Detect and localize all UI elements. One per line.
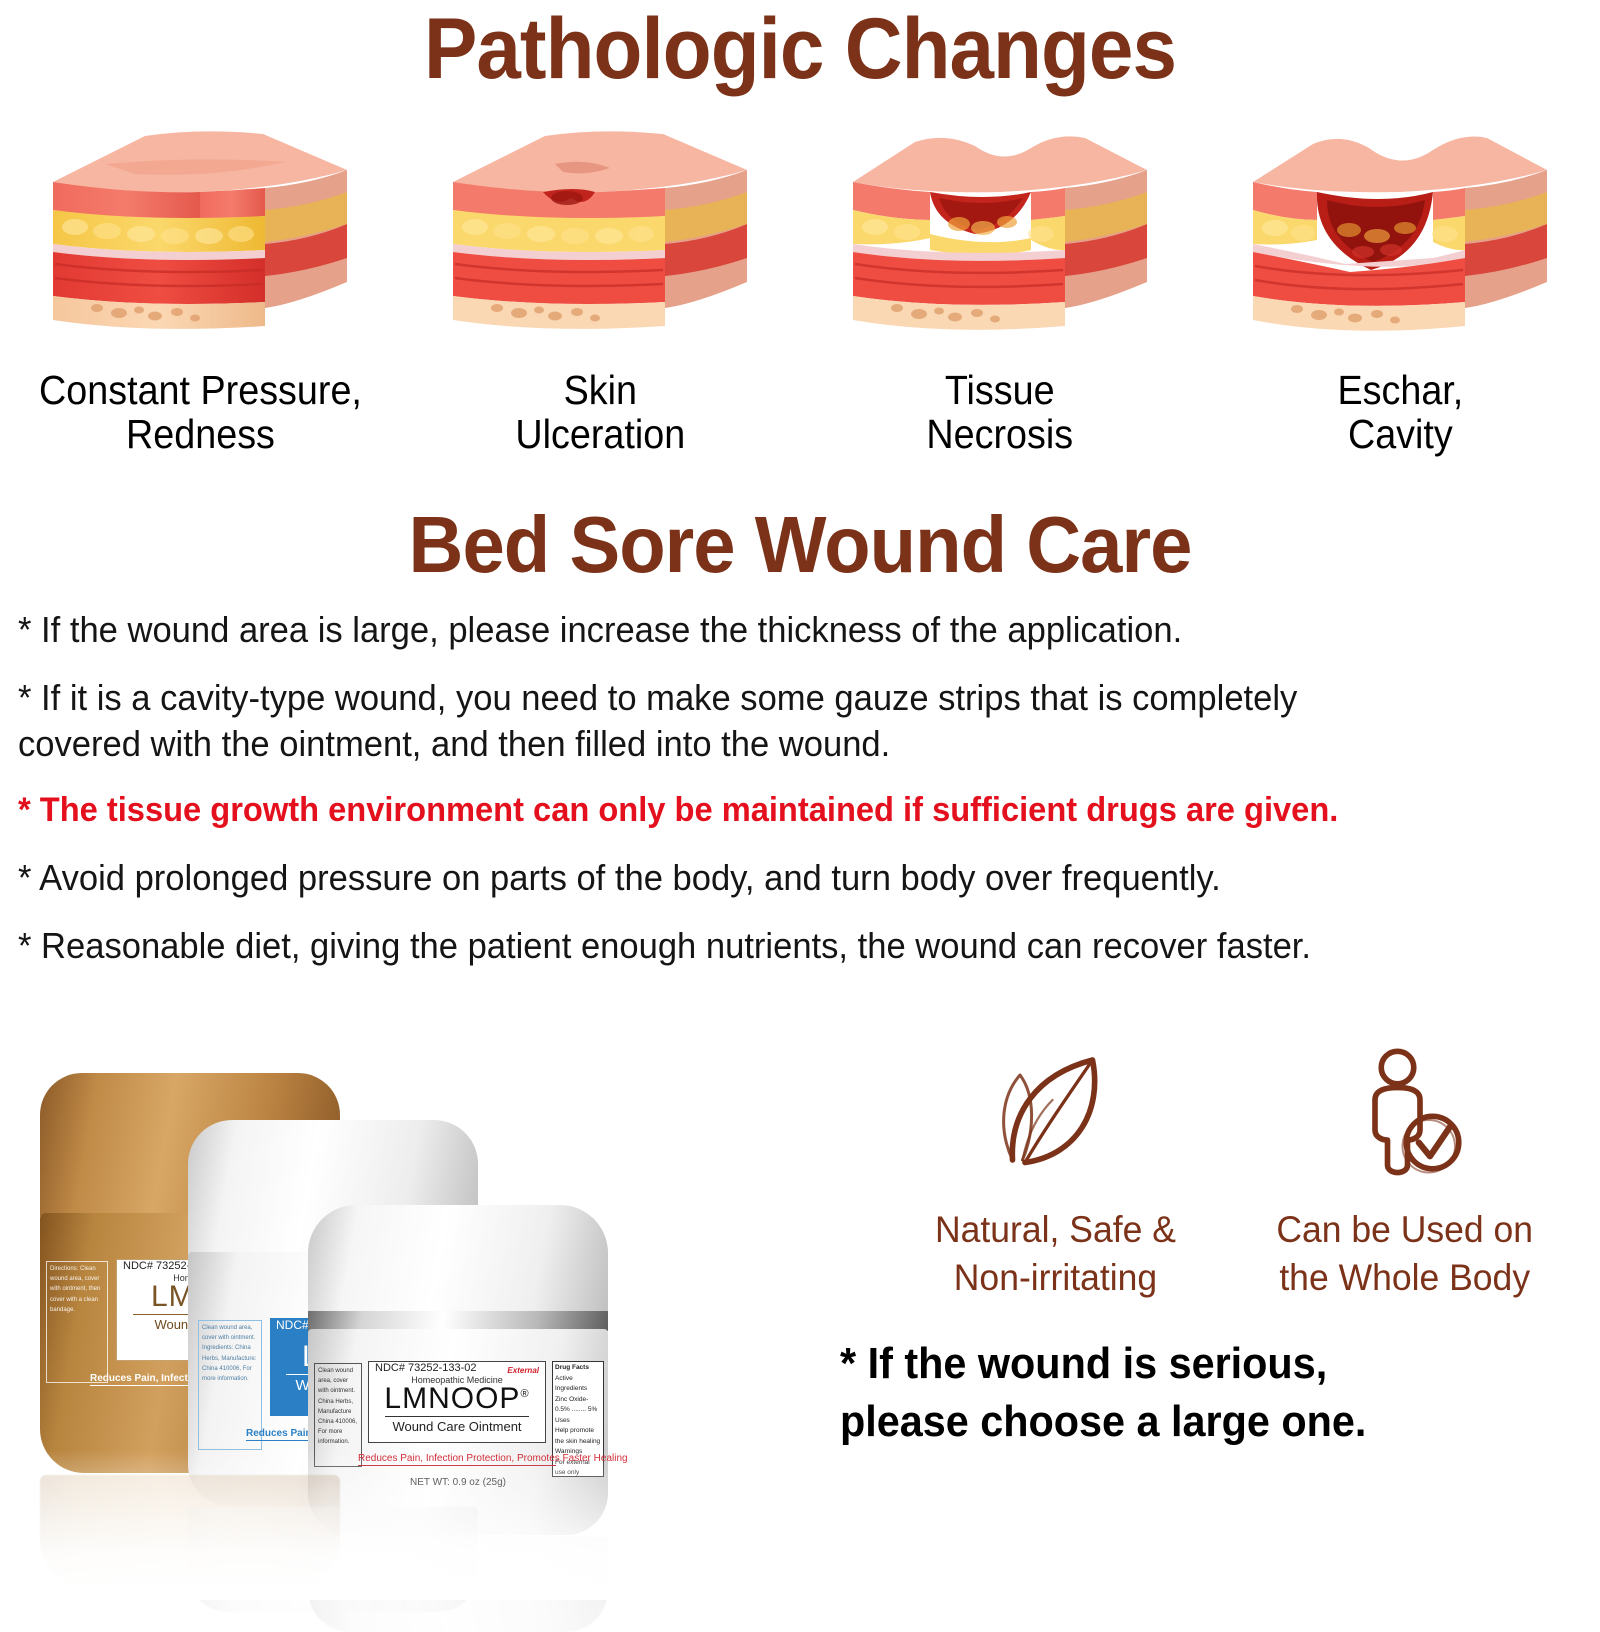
feature-badges-row: Natural, Safe & Non-irritating Can be Us…: [880, 1040, 1580, 1302]
drug-facts-line: Zinc Oxide-0.5% ........ 5%: [555, 1395, 601, 1416]
jar-external-badge: External: [507, 1366, 539, 1375]
jar-claim-text: Reduces Pain, Infection Protection, Prom…: [358, 1453, 556, 1466]
stage-label: Skin Ulceration: [515, 368, 685, 457]
product-jar-small-white[interactable]: Clean wound area, cover with ointment. C…: [308, 1205, 608, 1535]
stage-item-4: Eschar, Cavity: [1200, 112, 1600, 472]
page-title: Pathologic Changes: [56, 6, 1544, 92]
skin-cross-section-stage1-icon: [35, 112, 365, 362]
bottom-note-text: * If the wound is serious, please choose…: [840, 1335, 1536, 1451]
skin-cross-section-stage4-icon: [1235, 112, 1565, 362]
stage-item-2: Skin Ulceration: [400, 112, 800, 472]
care-bullet: * Reasonable diet, giving the patient en…: [18, 923, 1519, 969]
jar-label-divider: [385, 1416, 529, 1417]
drug-facts-heading: Drug Facts: [555, 1364, 589, 1371]
stage-item-1: Constant Pressure, Redness: [0, 112, 400, 472]
product-jars-group: Directions: Clean wound area, cover with…: [18, 1045, 848, 1600]
pathologic-stages-row: Constant Pressure, Redness: [0, 112, 1600, 472]
jar-side-panel: Directions: Clean wound area, cover with…: [46, 1261, 108, 1383]
feature-natural-safe: Natural, Safe & Non-irritating: [880, 1040, 1230, 1302]
skin-cross-section-stage2-icon: [435, 112, 765, 362]
stage-label: Eschar, Cavity: [1337, 368, 1463, 457]
stage-label: Constant Pressure, Redness: [39, 368, 362, 457]
drug-facts-line: Uses: [555, 1416, 601, 1427]
jar-net-weight: NET WT: 0.9 oz (25g): [396, 1477, 520, 1488]
stage-label: Tissue Necrosis: [927, 368, 1074, 457]
jar-side-panel: Clean wound area, cover with ointment. C…: [314, 1363, 362, 1467]
feature-label: Natural, Safe & Non-irritating: [935, 1206, 1176, 1302]
jar-lid: [308, 1205, 608, 1317]
stage-item-3: Tissue Necrosis: [800, 112, 1200, 472]
jar-subtitle: Wound Care Ointment: [369, 1419, 545, 1434]
feature-whole-body: Can be Used on the Whole Body: [1230, 1040, 1580, 1302]
care-bullet: * If the wound area is large, please inc…: [18, 607, 1519, 653]
feature-label: Can be Used on the Whole Body: [1277, 1206, 1534, 1302]
jar-reflection-white: [308, 1537, 608, 1632]
jar-brand-name: LMNOOP®: [369, 1384, 545, 1414]
section-title: Bed Sore Wound Care: [40, 505, 1560, 585]
drug-facts-line: Help promote the skin healing: [555, 1426, 601, 1447]
skin-cross-section-stage3-icon: [835, 112, 1165, 362]
leaf-icon: [980, 1040, 1130, 1190]
drug-facts-line: Active Ingredients: [555, 1374, 601, 1395]
care-bullet: * If it is a cavity-type wound, you need…: [18, 675, 1519, 767]
bottom-section: Directions: Clean wound area, cover with…: [0, 1035, 1600, 1600]
care-bullet-emphasis: * The tissue growth environment can only…: [18, 789, 1519, 833]
jar-front-label: External NDC# 73252-133-02 Homeopathic M…: [368, 1361, 546, 1443]
jar-metallic-ring: [308, 1311, 608, 1331]
person-check-icon: [1330, 1040, 1480, 1190]
care-instructions-list: * If the wound area is large, please inc…: [18, 607, 1582, 991]
registered-mark-icon: ®: [520, 1388, 529, 1400]
care-bullet: * Avoid prolonged pressure on parts of t…: [18, 855, 1519, 901]
